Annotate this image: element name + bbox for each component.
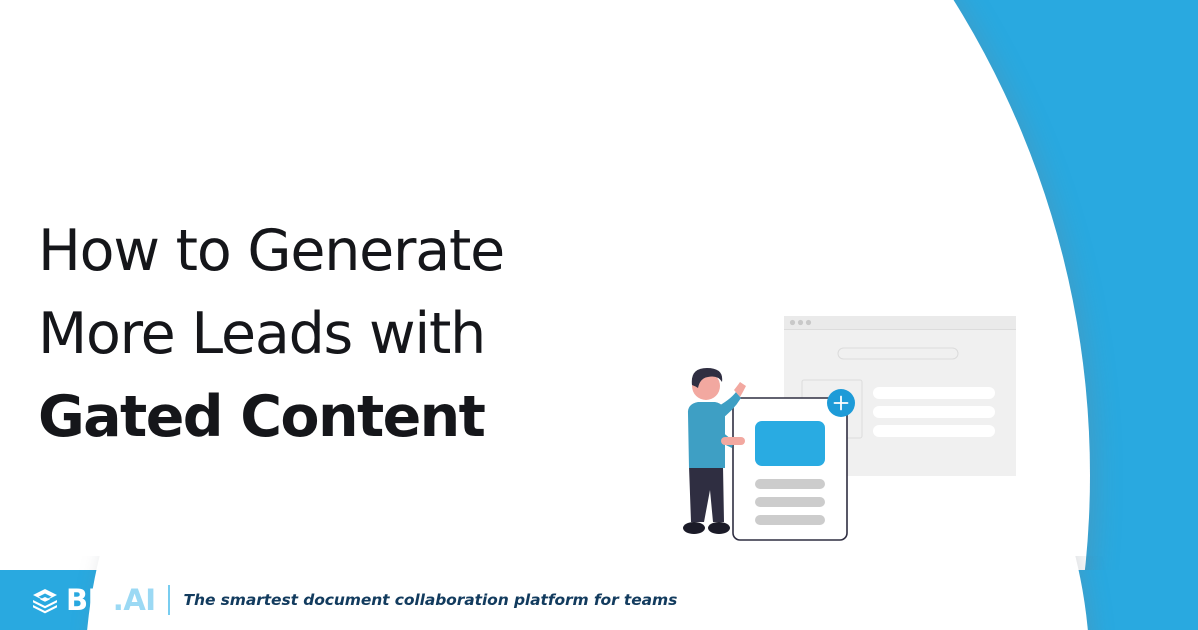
- headline-line-2: More Leads with: [38, 293, 598, 376]
- content-line-3: [873, 425, 995, 437]
- brand-wordmark: BIT.AI: [66, 586, 156, 615]
- window-dot-3: [806, 320, 811, 325]
- document-hero-block: [755, 421, 825, 466]
- person-shoe-right: [708, 522, 730, 534]
- gated-content-illustration: [660, 290, 1040, 560]
- brand-name-bit: BIT: [66, 583, 113, 617]
- brand-name-ai: AI: [123, 583, 155, 617]
- document-text-line-3: [755, 515, 825, 525]
- document-text-line-2: [755, 497, 825, 507]
- page-title: How to Generate More Leads with Gated Co…: [38, 210, 598, 459]
- add-badge-button: [827, 389, 855, 417]
- headline-line-3: Gated Content: [38, 376, 598, 459]
- brand-tagline: The smartest document collaboration plat…: [184, 591, 678, 609]
- footer-bar-right-segment: [1020, 570, 1198, 630]
- person-pants: [689, 466, 724, 522]
- brand-divider: [168, 585, 170, 615]
- person-hand-forearm: [721, 437, 745, 445]
- banner-root: How to Generate More Leads with Gated Co…: [0, 0, 1198, 630]
- window-dot-1: [790, 320, 795, 325]
- brand-name-dot: .: [113, 583, 124, 617]
- content-line-1: [873, 387, 995, 399]
- headline-line-1: How to Generate: [38, 210, 598, 293]
- document-card: [733, 398, 847, 540]
- person-shoe-left: [683, 522, 705, 534]
- brand-row: BIT.AI The smartest document collaborati…: [30, 578, 677, 622]
- stacked-layers-icon: [30, 585, 60, 615]
- url-bar: [838, 348, 958, 359]
- window-dot-2: [798, 320, 803, 325]
- document-text-line-1: [755, 479, 825, 489]
- content-line-2: [873, 406, 995, 418]
